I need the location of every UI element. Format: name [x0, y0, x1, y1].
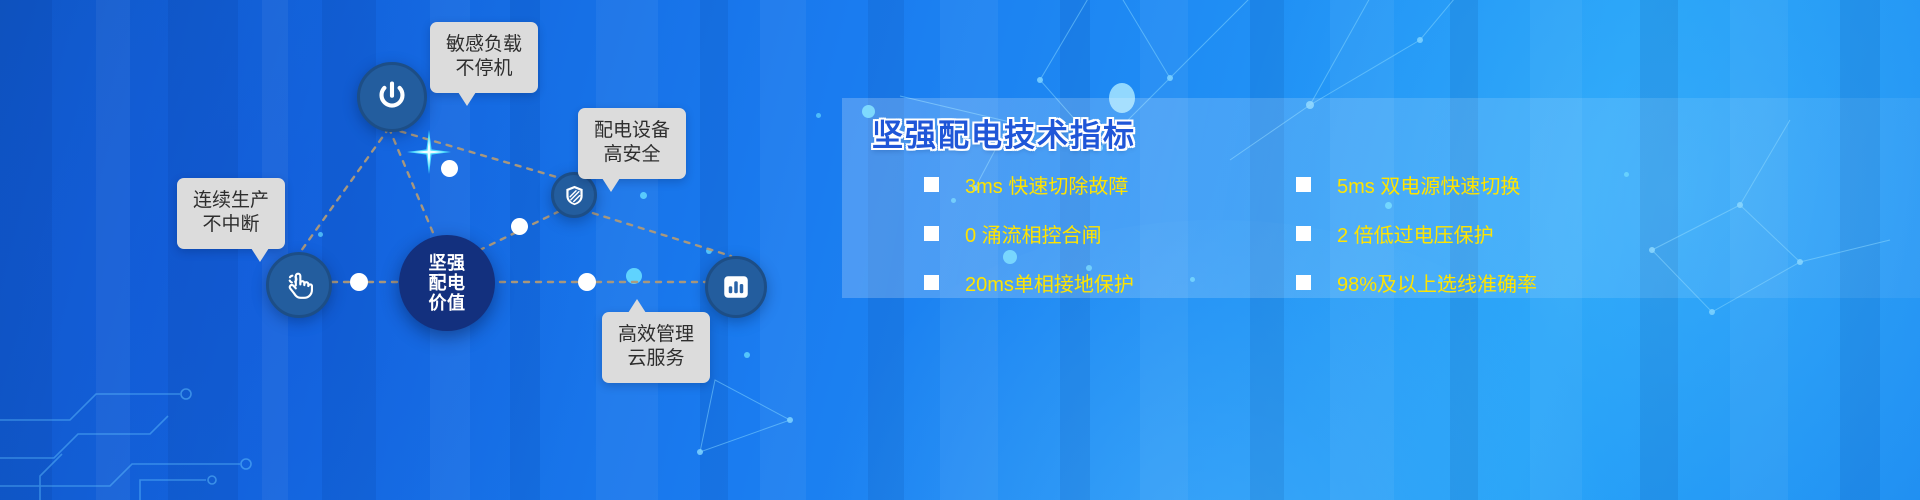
tech-spec-panel: 坚强配电技术指标 3ms 快速切除故障 5ms 双电源快速切换 0 涌流相控合闸…	[842, 98, 1920, 298]
center-value-node: 坚强 配电 价值	[399, 235, 495, 331]
center-line-1: 坚强	[429, 253, 466, 273]
callout-equipment-safety: 配电设备 高安全	[578, 108, 686, 179]
sparkle-icon	[405, 128, 453, 176]
callout-line-2: 云服务	[618, 347, 694, 371]
callout-cloud-service: 高效管理 云服务	[602, 312, 710, 383]
node-touch[interactable]	[266, 252, 332, 318]
connector-dot	[578, 273, 596, 291]
callout-line-1: 连续生产	[193, 189, 269, 213]
spec-item: 20ms单相接地保护	[924, 268, 1296, 297]
node-power[interactable]	[357, 62, 427, 132]
power-icon	[375, 80, 409, 114]
spec-item: 98%及以上选线准确率	[1296, 268, 1884, 297]
hand-pointer-icon	[283, 269, 315, 301]
callout-line-1: 配电设备	[594, 119, 670, 143]
spec-item-label: 3ms 快速切除故障	[965, 170, 1128, 199]
bullet-square-icon	[1296, 177, 1311, 192]
callout-line-2: 不停机	[446, 57, 522, 81]
panel-title: 坚强配电技术指标	[872, 110, 1136, 155]
bullet-square-icon	[924, 275, 939, 290]
callout-line-2: 不中断	[193, 213, 269, 237]
spec-item-label: 0 涌流相控合闸	[965, 219, 1102, 248]
callout-line-1: 敏感负载	[446, 33, 522, 57]
spec-item-label: 20ms单相接地保护	[965, 268, 1134, 297]
node-chart[interactable]	[705, 256, 767, 318]
bar-chart-icon	[721, 272, 751, 302]
spec-item: 3ms 快速切除故障	[924, 170, 1296, 199]
spec-list: 3ms 快速切除故障 5ms 双电源快速切换 0 涌流相控合闸 2 倍低过电压保…	[924, 170, 1884, 297]
spec-item-label: 2 倍低过电压保护	[1337, 219, 1494, 248]
connector-dot	[350, 273, 368, 291]
callout-line-2: 高安全	[594, 143, 670, 167]
promo-banner: 坚强 配电 价值 敏感负载 不停机 配电设备 高安全 连续生产 不中断 高效管理…	[0, 0, 1920, 500]
center-line-2: 配电	[429, 273, 466, 293]
spec-item: 0 涌流相控合闸	[924, 219, 1296, 248]
shield-icon	[563, 184, 586, 207]
center-line-3: 价值	[429, 293, 466, 313]
callout-continuous-production: 连续生产 不中断	[177, 178, 285, 249]
node-shield[interactable]	[551, 172, 597, 218]
callout-sensitive-load: 敏感负载 不停机	[430, 22, 538, 93]
callout-line-1: 高效管理	[618, 323, 694, 347]
bullet-square-icon	[924, 226, 939, 241]
spec-item: 2 倍低过电压保护	[1296, 219, 1884, 248]
connector-dot	[511, 218, 528, 235]
spec-item-label: 5ms 双电源快速切换	[1337, 170, 1520, 199]
spec-item: 5ms 双电源快速切换	[1296, 170, 1884, 199]
bullet-square-icon	[924, 177, 939, 192]
bullet-square-icon	[1296, 226, 1311, 241]
spec-item-label: 98%及以上选线准确率	[1337, 268, 1537, 297]
bullet-square-icon	[1296, 275, 1311, 290]
value-network-diagram: 坚强 配电 价值 敏感负载 不停机 配电设备 高安全 连续生产 不中断 高效管理…	[0, 0, 860, 500]
